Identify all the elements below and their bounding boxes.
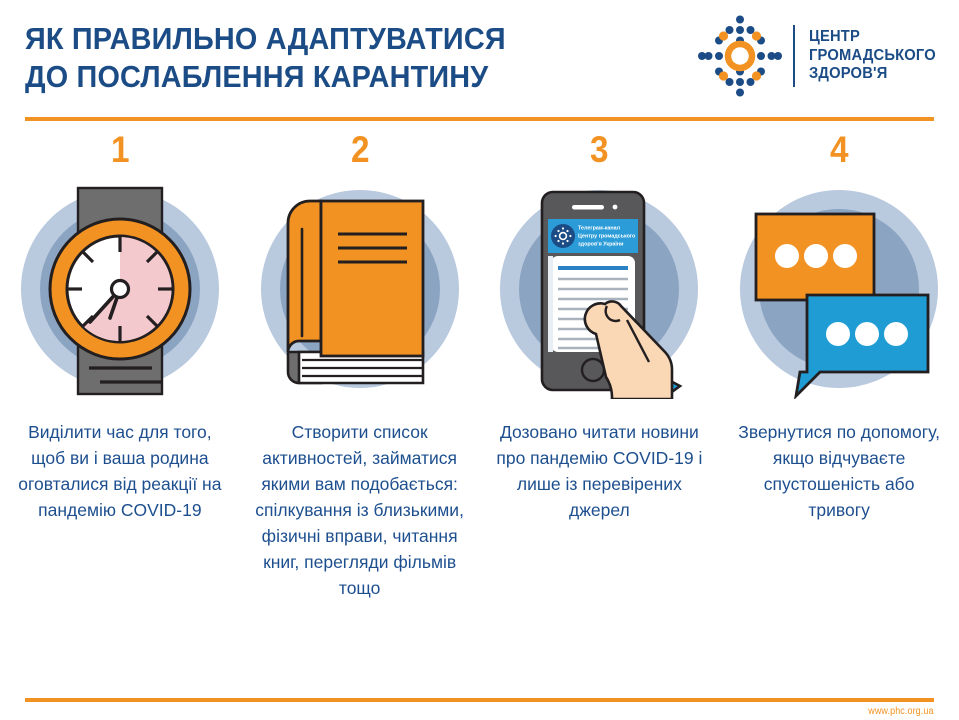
step-number-3: 3	[590, 130, 608, 170]
step-column-3: 3	[480, 130, 720, 601]
steps-row: 1	[0, 130, 959, 601]
phc-logo-mark-icon	[697, 14, 783, 98]
phone-channel-line-3: здоров'я України	[578, 242, 623, 248]
step-number-1: 1	[111, 130, 129, 170]
organization-logo: ЦЕНТР ГРОМАДСЬКОГО ЗДОРОВ'Я	[697, 14, 943, 98]
logo-wordmark: ЦЕНТР ГРОМАДСЬКОГО ЗДОРОВ'Я	[809, 28, 936, 84]
page-title: ЯК ПРАВИЛЬНО АДАПТУВАТИСЯ ДО ПОСЛАБЛЕННЯ…	[25, 20, 620, 96]
logo-divider	[793, 25, 795, 87]
phone-channel-line-2: Центру громадського	[578, 234, 636, 240]
step-column-1: 1	[0, 130, 240, 601]
website-url[interactable]: www.phc.org.ua	[869, 706, 934, 717]
step-number-2: 2	[351, 130, 369, 170]
step-caption-4: Звернутися по допомогу, якщо відчуваєте …	[732, 419, 947, 523]
logo-word-3: ЗДОРОВ'Я	[809, 65, 936, 84]
chat-bubbles-icon	[734, 184, 944, 399]
logo-word-1: ЦЕНТР	[809, 28, 936, 47]
infographic-page: ЯК ПРАВИЛЬНО АДАПТУВАТИСЯ ДО ПОСЛАБЛЕННЯ…	[0, 0, 959, 720]
step-column-2: 2	[240, 130, 480, 601]
phone-channel-line-1: Телеграм-канал	[578, 226, 621, 232]
step-caption-2: Створити список активностей, займатися я…	[252, 419, 467, 601]
step-column-4: 4	[719, 130, 959, 601]
footer-divider-rule	[25, 698, 934, 702]
phone-in-hand-icon: Телеграм-канал Центру громадського здоро…	[494, 184, 704, 399]
header-divider-rule	[25, 117, 934, 121]
header: ЯК ПРАВИЛЬНО АДАПТУВАТИСЯ ДО ПОСЛАБЛЕННЯ…	[0, 0, 959, 112]
book-icon	[255, 184, 465, 399]
logo-word-2: ГРОМАДСЬКОГО	[809, 47, 936, 66]
step-caption-3: Дозовано читати новини про пандемію COVI…	[492, 419, 707, 523]
wristwatch-icon	[15, 184, 225, 399]
step-caption-1: Виділити час для того, щоб ви і ваша род…	[12, 419, 227, 523]
page-title-line-1: ЯК ПРАВИЛЬНО АДАПТУВАТИСЯ	[25, 20, 620, 58]
step-number-4: 4	[830, 130, 848, 170]
page-title-line-2: ДО ПОСЛАБЛЕННЯ КАРАНТИНУ	[25, 58, 620, 96]
